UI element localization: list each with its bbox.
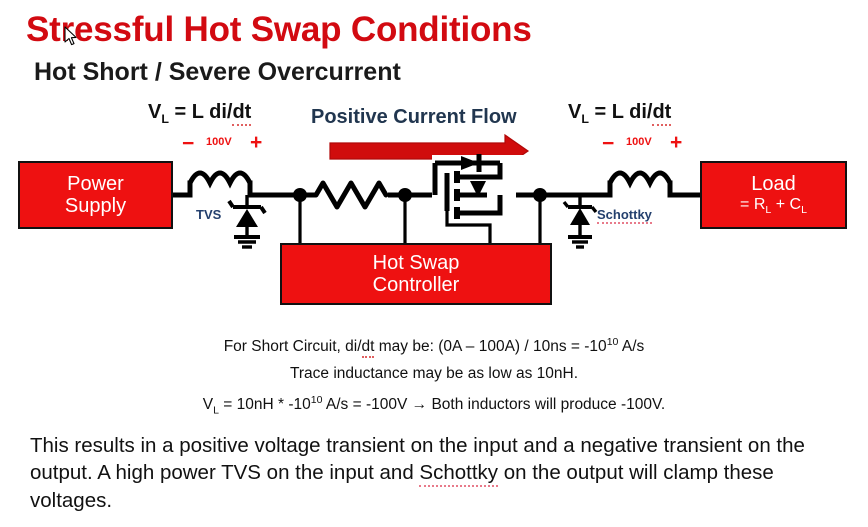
tvs-label: TVS bbox=[196, 207, 221, 222]
right-inductor-minus: − bbox=[602, 133, 614, 154]
note-line-3: VL = 10nH * -1010 A/s = -100V → Both ind… bbox=[0, 394, 868, 416]
left-inductor-symbol bbox=[190, 173, 250, 183]
schottky-diode-symbol bbox=[564, 195, 596, 247]
paragraph-spellword: Schottky bbox=[419, 461, 498, 487]
right-inductor-symbol bbox=[610, 173, 670, 183]
power-supply-line2: Supply bbox=[65, 195, 126, 217]
load-block: Load = RL + CL bbox=[700, 161, 847, 229]
left-inductor-voltage: 100V bbox=[206, 136, 232, 148]
right-inductor-voltage: 100V bbox=[626, 136, 652, 148]
circuit-diagram: Power Supply Load = RL + CL Hot Swap Con… bbox=[0, 95, 868, 330]
left-inductor-plus: + bbox=[250, 132, 262, 153]
right-inductor-plus: + bbox=[670, 132, 682, 153]
power-supply-block: Power Supply bbox=[18, 161, 173, 229]
left-inductor-minus: − bbox=[182, 133, 194, 154]
load-line2: = RL + CL bbox=[740, 196, 807, 217]
page-title: Stressful Hot Swap Conditions bbox=[26, 10, 532, 50]
load-line1: Load bbox=[751, 173, 796, 195]
controller-line2: Controller bbox=[373, 274, 460, 296]
power-supply-line1: Power bbox=[67, 173, 124, 195]
summary-paragraph: This results in a positive voltage trans… bbox=[30, 432, 842, 514]
controller-line1: Hot Swap bbox=[373, 252, 460, 274]
note-line-1: For Short Circuit, di/dt may be: (0A – 1… bbox=[0, 336, 868, 356]
note-line-2: Trace inductance may be as low as 10nH. bbox=[0, 365, 868, 383]
slide-canvas: Stressful Hot Swap Conditions Hot Short … bbox=[0, 0, 868, 527]
tvs-diode-symbol bbox=[229, 195, 265, 247]
right-inductor-equation: VL = L di/dt bbox=[568, 101, 671, 126]
schottky-label: Schottky bbox=[597, 207, 652, 224]
hot-swap-controller-block: Hot Swap Controller bbox=[280, 243, 552, 305]
page-subtitle: Hot Short / Severe Overcurrent bbox=[34, 58, 401, 87]
left-inductor-equation: VL = L di/dt bbox=[148, 101, 251, 126]
current-flow-label: Positive Current Flow bbox=[311, 106, 517, 129]
